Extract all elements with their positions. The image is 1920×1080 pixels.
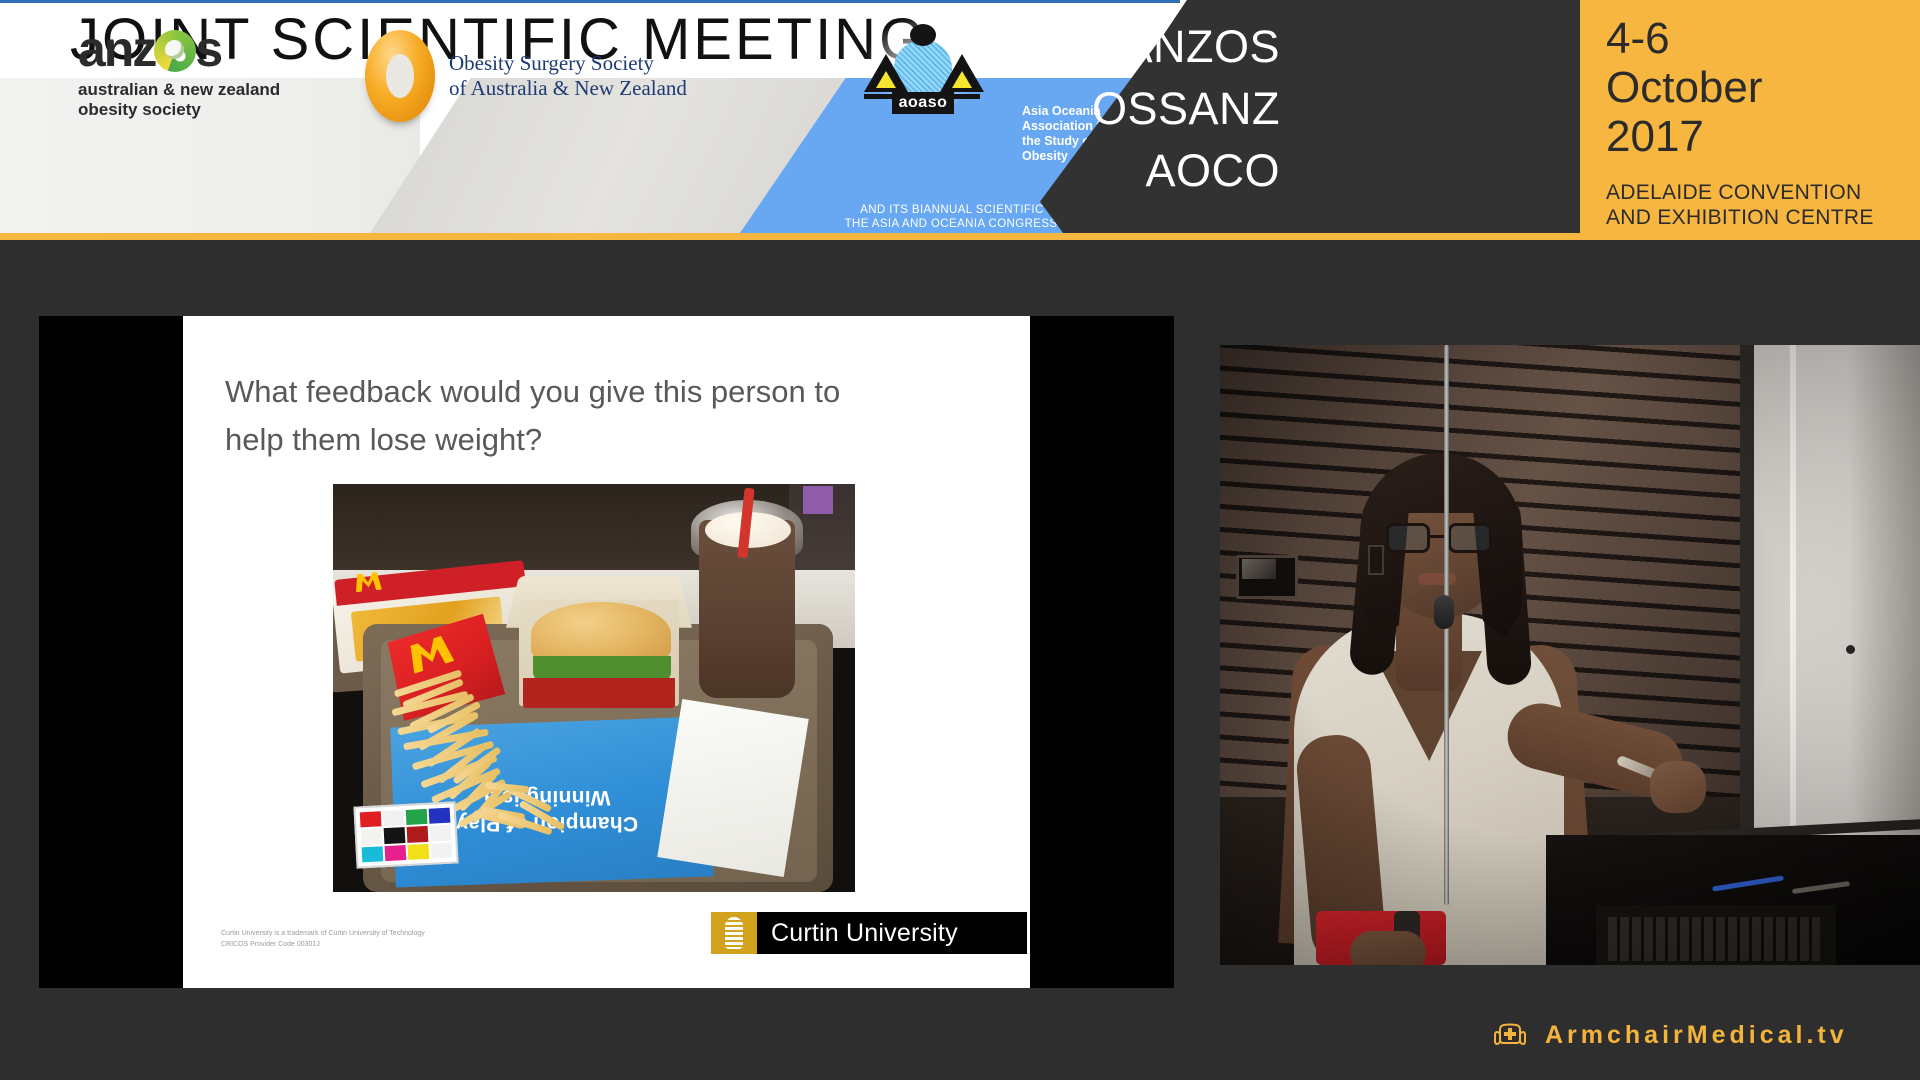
photo-french-fries [389, 674, 619, 824]
ossanz-logo: Obesity Surgery Society of Australia & N… [365, 30, 695, 122]
society-anzos: ANZOS [1060, 16, 1280, 78]
curtin-logo-text: Curtin University [757, 912, 1027, 954]
date-line2: October [1606, 63, 1763, 112]
aoaso-triangle-left-icon [864, 54, 908, 92]
conference-banner: JOINT SCIENTIFIC MEETING anzs australian… [0, 0, 1920, 240]
slide-content: What feedback would you give this person… [183, 316, 1030, 988]
ossanz-line2: of Australia & New Zealand [449, 76, 687, 101]
fast-food-tray-photo: Champion of Play Winning is a [333, 484, 855, 892]
video-vignette [1220, 345, 1920, 965]
slide-viewport[interactable]: What feedback would you give this person… [39, 316, 1174, 988]
anzos-subtitle: australian & new zealand obesity society [78, 80, 368, 120]
color-swatch [430, 825, 452, 841]
anzos-wordmark-prefix: anz [78, 21, 155, 77]
aoaso-label: aoaso [892, 92, 954, 114]
speaker-video-feed[interactable] [1220, 345, 1920, 965]
banner-bottom-edge [0, 241, 1920, 245]
color-swatch [429, 808, 451, 824]
color-swatch [362, 846, 384, 862]
slide-question-text: What feedback would you give this person… [225, 368, 995, 464]
slide-question-line1: What feedback would you give this person… [225, 368, 995, 416]
event-venue: ADELAIDE CONVENTION AND EXHIBITION CENTR… [1606, 180, 1874, 230]
aoaso-triangle-right-icon [940, 54, 984, 92]
armchair-medical-watermark: ArmchairMedical.tv [1493, 1018, 1848, 1052]
color-swatch [360, 811, 382, 827]
ossanz-line1: Obesity Surgery Society [449, 51, 687, 76]
photo-background-purple [803, 486, 833, 514]
anzos-wordmark-suffix: s [195, 21, 221, 77]
color-swatch [361, 829, 383, 845]
society-aoco: AOCO [1060, 140, 1280, 202]
color-swatch [383, 810, 405, 826]
venue-line1: ADELAIDE CONVENTION [1606, 180, 1874, 205]
aoaso-mountains-icon: aoaso [862, 18, 982, 128]
society-ossanz: OSSANZ [1060, 78, 1280, 140]
presentation-viewer: JOINT SCIENTIFIC MEETING anzs australian… [0, 0, 1920, 1080]
curtin-fine-print: Curtin University is a trademark of Curt… [221, 928, 601, 950]
color-swatch [406, 809, 428, 825]
date-line3: 2017 [1606, 112, 1763, 161]
anzos-subtitle-line1: australian & new zealand [78, 80, 368, 100]
color-swatch [430, 842, 452, 858]
date-line1: 4-6 [1606, 14, 1763, 63]
event-date: 4-6 October 2017 [1606, 14, 1763, 161]
curtin-fine-line2: CRICOS Provider Code 00301J [221, 939, 601, 950]
anzos-logo: anzs australian & new zealand obesity so… [78, 24, 368, 120]
anzos-wordmark: anzs [78, 24, 368, 74]
venue-line2: AND EXHIBITION CENTRE [1606, 205, 1874, 230]
color-swatch [408, 843, 430, 859]
ossanz-name: Obesity Surgery Society of Australia & N… [449, 51, 687, 101]
orange-ring-icon [365, 30, 435, 122]
aoaso-head-shape [910, 24, 936, 46]
armchair-medical-cross-icon [1493, 1018, 1527, 1052]
color-swatch [385, 845, 407, 861]
color-swatch [407, 826, 429, 842]
color-swatch [384, 827, 406, 843]
curtin-university-logo: Curtin University [711, 912, 1027, 954]
slide-question-line2: help them lose weight? [225, 416, 995, 464]
banner-orange-rule [0, 233, 1920, 240]
koru-spiral-icon [154, 30, 196, 72]
anzos-subtitle-line2: obesity society [78, 100, 368, 120]
curtin-fine-line1: Curtin University is a trademark of Curt… [221, 928, 601, 939]
curtin-crest-icon [711, 912, 757, 954]
watermark-text: ArmchairMedical.tv [1545, 1021, 1848, 1050]
society-acronyms: ANZOS OSSANZ AOCO [1060, 16, 1280, 202]
photo-receipt [657, 699, 808, 877]
photo-color-calibration-chart [353, 801, 458, 868]
